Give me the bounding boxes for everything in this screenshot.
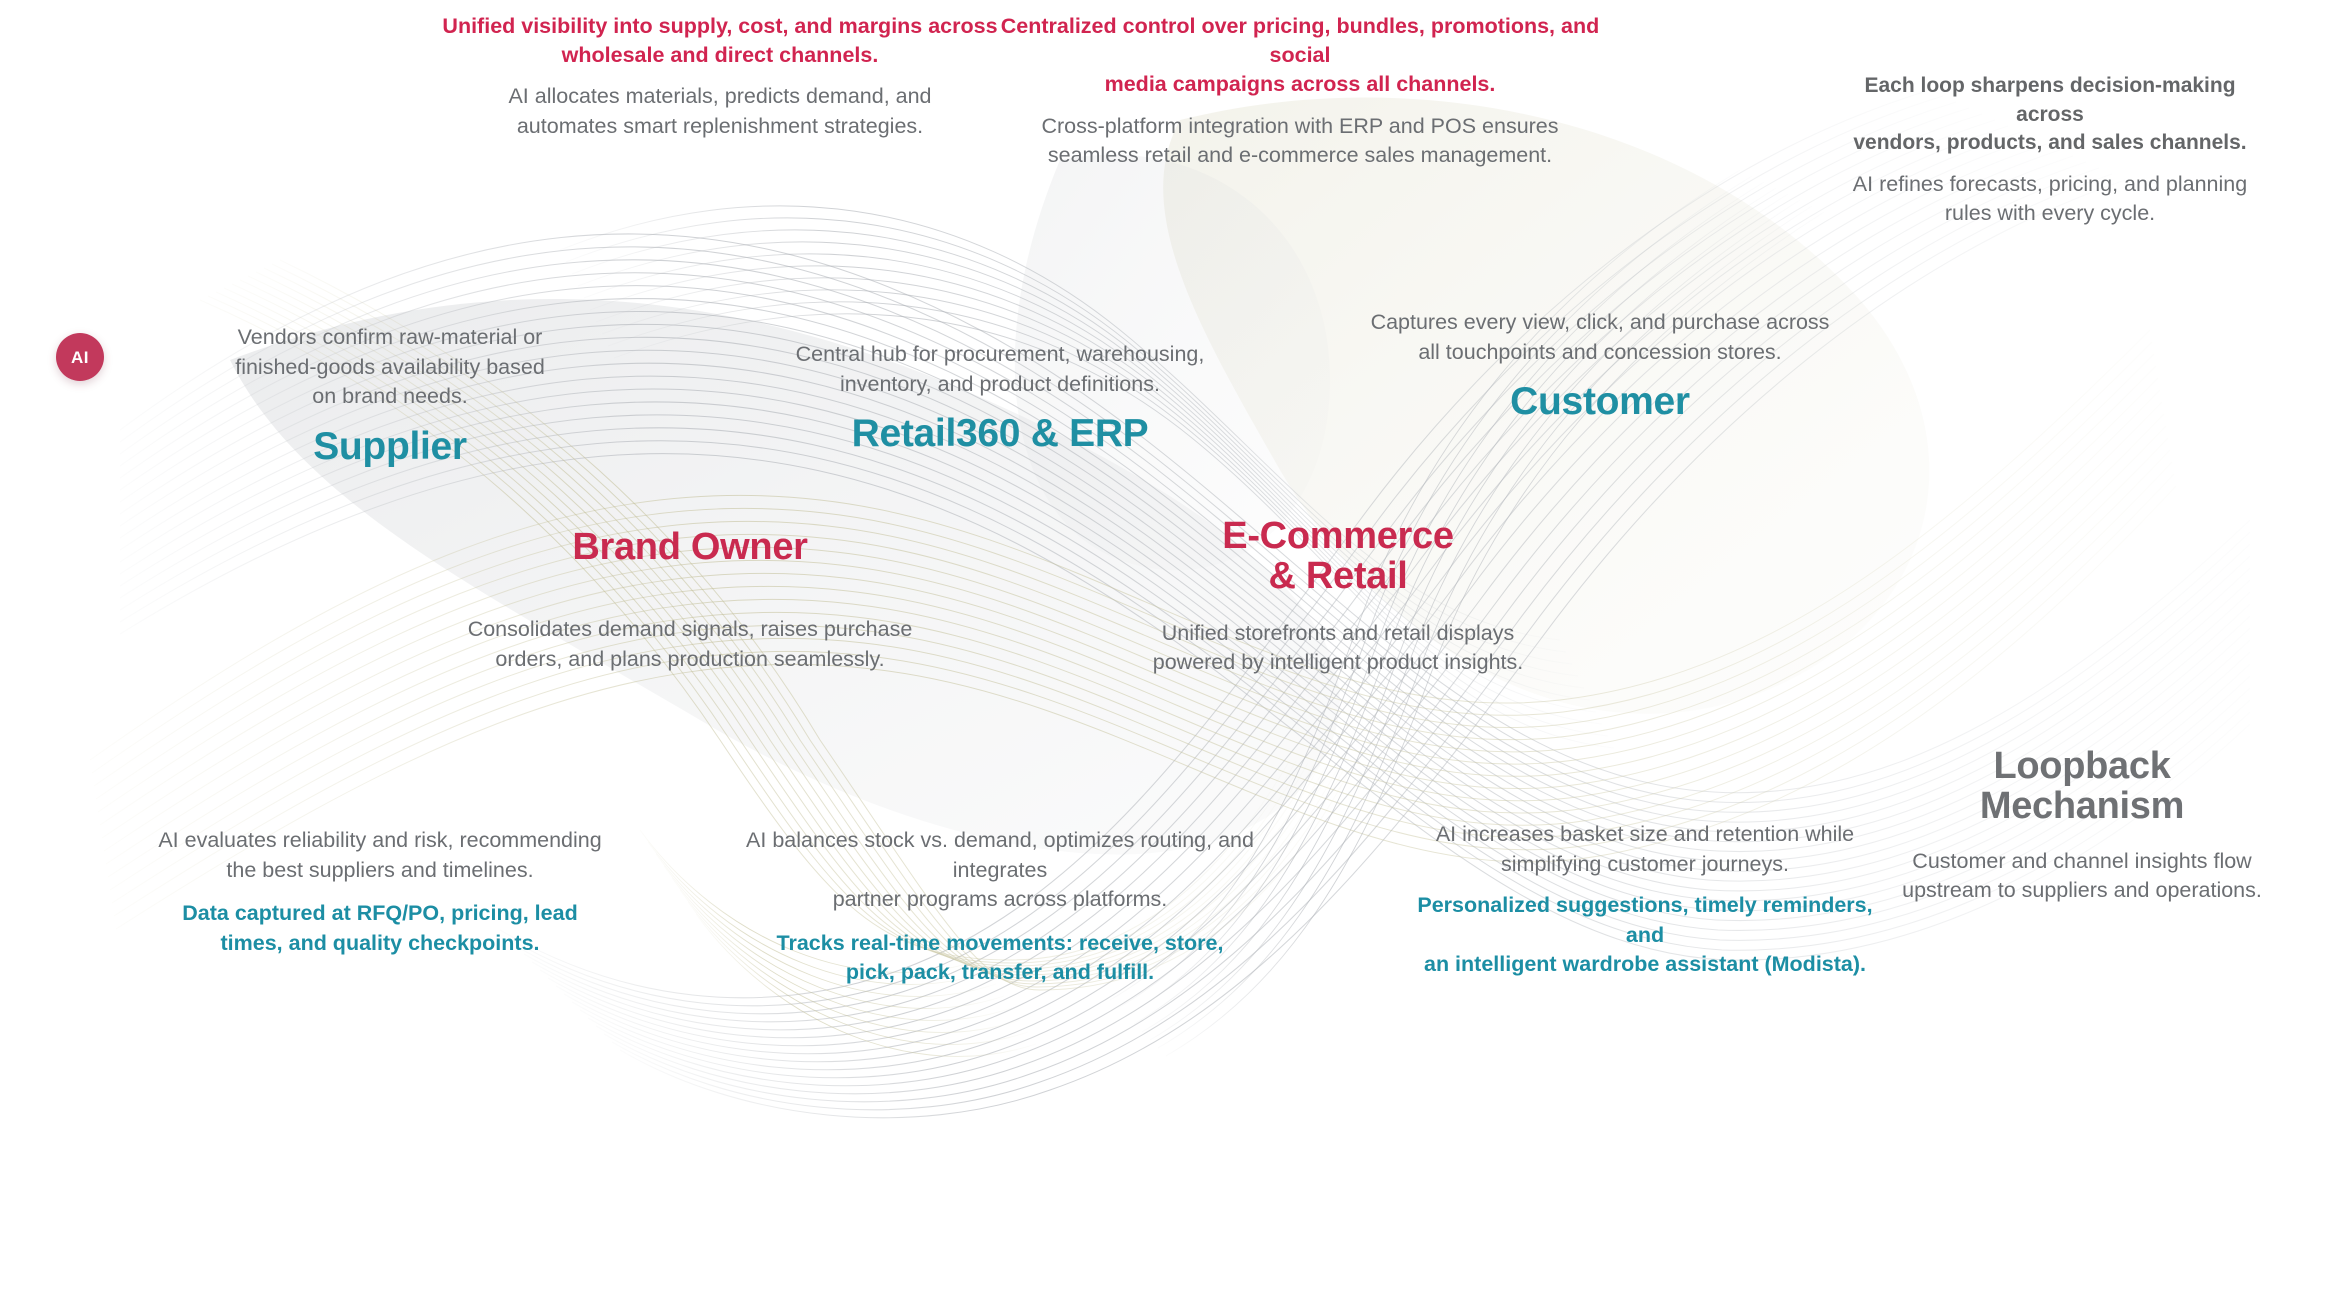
callout-body: Cross-platform integration with ERP and … [990, 112, 1610, 171]
callout-body: AI evaluates reliability and risk, recom… [140, 826, 620, 885]
diagram-canvas: AI Unified visibility into supply, cost,… [0, 0, 2332, 1300]
node-supplier-title: Supplier [160, 426, 620, 467]
node-customer-description: Captures every view, click, and purchase… [1350, 308, 1850, 367]
node-ecommerce-retail-title: E-Commerce & Retail [1078, 516, 1598, 597]
ai-badge[interactable]: AI [56, 333, 104, 381]
callout-supplier-detail: AI evaluates reliability and risk, recom… [140, 826, 620, 958]
node-loopback-mechanism-description: Customer and channel insights flow upstr… [1872, 847, 2292, 906]
node-loopback-mechanism[interactable]: Loopback Mechanism Customer and channel … [1872, 746, 2292, 906]
node-supplier-description: Vendors confirm raw-material or finished… [160, 323, 620, 412]
node-retail360-erp-description: Central hub for procurement, warehousing… [730, 340, 1270, 399]
node-ecommerce-retail-description: Unified storefronts and retail displays … [1078, 619, 1598, 678]
callout-body: AI allocates materials, predicts demand,… [440, 82, 1000, 141]
callout-inventory-detail: AI balances stock vs. demand, optimizes … [700, 826, 1300, 987]
node-supplier[interactable]: Vendors confirm raw-material or finished… [160, 323, 620, 467]
callout-body: AI refines forecasts, pricing, and plann… [1830, 170, 2270, 229]
callout-headline: Centralized control over pricing, bundle… [990, 12, 1610, 100]
callout-centralized-control: Centralized control over pricing, bundle… [990, 12, 1610, 171]
callout-loop-sharpens: Each loop sharpens decision-making acros… [1830, 72, 2270, 229]
node-customer-title: Customer [1350, 381, 1850, 422]
node-brand-owner-description: Consolidates demand signals, raises purc… [440, 615, 940, 674]
node-retail360-erp[interactable]: Central hub for procurement, warehousing… [730, 340, 1270, 455]
callout-supply-visibility: Unified visibility into supply, cost, an… [440, 12, 1000, 142]
callout-body: AI balances stock vs. demand, optimizes … [700, 826, 1300, 915]
ai-badge-label: AI [71, 349, 89, 366]
node-customer[interactable]: Captures every view, click, and purchase… [1350, 308, 1850, 423]
node-ecommerce-retail[interactable]: E-Commerce & Retail Unified storefronts … [1078, 516, 1598, 678]
callout-emphasis: Personalized suggestions, timely reminde… [1400, 891, 1890, 979]
node-loopback-mechanism-title: Loopback Mechanism [1872, 746, 2292, 827]
node-brand-owner-title: Brand Owner [440, 527, 940, 567]
node-retail360-erp-title: Retail360 & ERP [730, 413, 1270, 454]
callout-customer-detail: AI increases basket size and retention w… [1400, 820, 1890, 979]
callout-headline: Each loop sharpens decision-making acros… [1830, 72, 2270, 158]
callout-emphasis: Tracks real-time movements: receive, sto… [700, 929, 1300, 987]
node-brand-owner[interactable]: Brand Owner Consolidates demand signals,… [440, 527, 940, 675]
callout-emphasis: Data captured at RFQ/PO, pricing, lead t… [140, 899, 620, 957]
callout-body: AI increases basket size and retention w… [1400, 820, 1890, 879]
callout-headline: Unified visibility into supply, cost, an… [440, 12, 1000, 70]
